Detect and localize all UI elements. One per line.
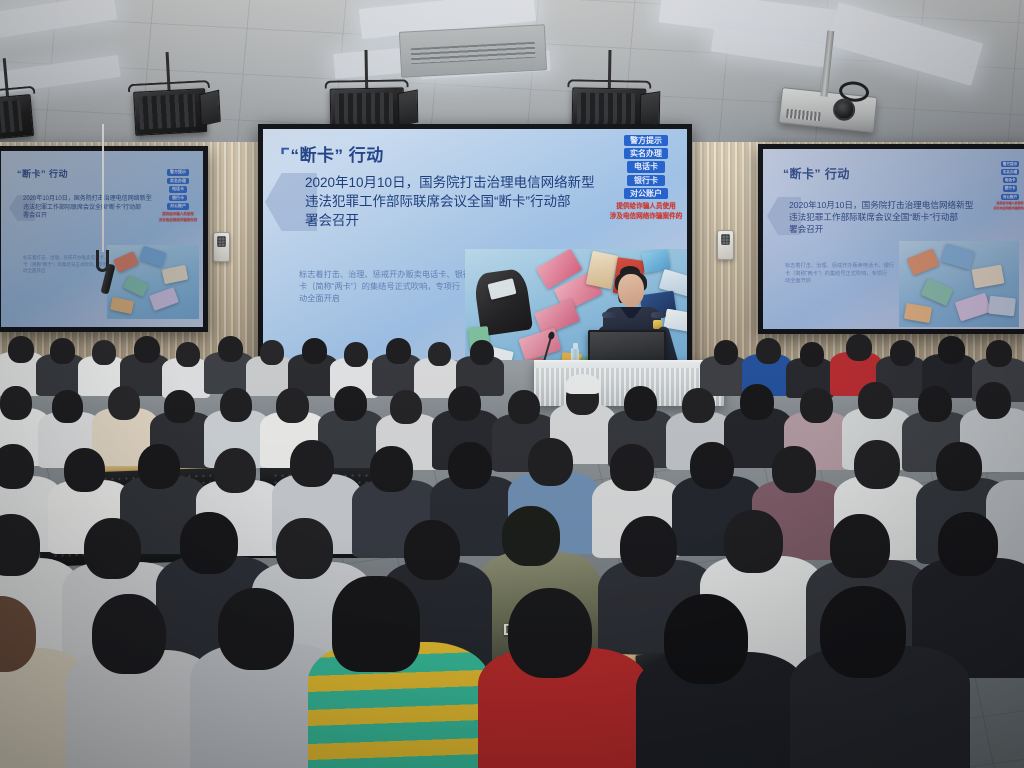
title-bracket-icon: ⌜ xyxy=(280,146,291,166)
audience-head xyxy=(448,386,481,421)
presenter-epaulette xyxy=(602,312,617,318)
audience-head xyxy=(610,444,654,491)
audience-head xyxy=(936,442,982,491)
audience-head xyxy=(52,390,83,423)
audience-head xyxy=(470,340,494,365)
hanging-wire xyxy=(102,124,104,252)
audience-head xyxy=(0,386,32,420)
slide-body-line: 2020年10月10日，国务院打击治理电信网络新型 xyxy=(305,173,655,192)
audience-head xyxy=(740,384,774,420)
audience-head xyxy=(508,390,540,424)
audience-head xyxy=(404,520,460,580)
audience-head xyxy=(528,438,573,486)
audience-head xyxy=(772,446,816,493)
audience-head xyxy=(84,518,141,579)
slide-body-line: 署会召开 xyxy=(305,211,655,230)
audience-cap xyxy=(566,374,600,394)
audience-head xyxy=(756,338,781,364)
audience-head xyxy=(8,336,34,363)
audience-head xyxy=(664,594,748,684)
audience-head xyxy=(938,512,998,576)
audience-head xyxy=(938,336,965,364)
audience-head xyxy=(820,586,906,678)
audience-head xyxy=(138,444,180,489)
audience-head xyxy=(858,382,893,419)
audience-head xyxy=(218,588,294,670)
wall-mounted-speaker xyxy=(717,230,734,260)
slide-caption-line: 标志着打击、治理、惩戒开办贩卖电话卡、银行 xyxy=(299,269,484,281)
audience-head xyxy=(624,386,657,421)
audience-head xyxy=(724,510,783,573)
audience-head xyxy=(448,442,492,489)
audience-head xyxy=(176,342,200,367)
audience-head xyxy=(92,594,166,674)
audience-head xyxy=(386,338,411,364)
audience-head xyxy=(344,342,368,367)
audience-head xyxy=(800,388,833,423)
slide-tag-phone-card: 电话卡 xyxy=(627,161,665,172)
audience-head xyxy=(276,388,309,423)
audience-head xyxy=(800,342,824,367)
audience-head xyxy=(64,448,105,492)
audience-head xyxy=(714,340,738,365)
lecture-hall-photo: “断卡” 行动 2020年10月10日，国务院打击治理电信网络新型 违法犯罪工作… xyxy=(0,0,1024,768)
slide-tag-corp-account: 对公账户 xyxy=(624,188,668,199)
audience-head xyxy=(508,588,592,678)
audience-head xyxy=(690,442,734,489)
slide-tag-column: 警方提示 实名办理 电话卡 银行卡 对公账户 提供给诈骗人员使用 涉及电信网络诈… xyxy=(611,135,681,221)
audience-head xyxy=(0,444,34,489)
audience-head xyxy=(332,576,420,672)
audience-head xyxy=(830,514,890,578)
wall-mounted-speaker xyxy=(213,232,230,262)
right-screen-dimming xyxy=(763,149,1024,329)
audience-head xyxy=(260,340,284,365)
stage-light xyxy=(133,84,207,132)
slide-red-note: 涉及电信网络诈骗案件的 xyxy=(610,213,683,221)
audience-head xyxy=(682,388,715,423)
audience-head xyxy=(276,518,333,579)
audience-head xyxy=(846,334,872,361)
audience-head xyxy=(334,386,367,421)
audience-head xyxy=(986,340,1012,367)
right-projection-screen[interactable]: “断卡” 行动 2020年10月10日，国务院打击治理电信网络新型 违法犯罪工作… xyxy=(758,144,1024,334)
slide-caption-line: 动全面开启 xyxy=(299,293,484,305)
slide-tag-real-name: 实名办理 xyxy=(624,148,668,159)
audience-head xyxy=(180,512,238,574)
presenter-epaulette xyxy=(651,312,666,318)
slide-red-note: 提供给诈骗人员使用 xyxy=(616,203,675,211)
slide-caption-line: 卡（简称“两卡”）的集结号正式吹响，专项行 xyxy=(299,281,484,293)
audience-head xyxy=(134,336,160,363)
audience-head xyxy=(390,390,422,424)
audience-head xyxy=(854,440,900,489)
audience-head xyxy=(108,386,140,420)
slide-tag-police-tip: 警方提示 xyxy=(624,135,668,146)
audience-head xyxy=(428,342,451,366)
left-projection-screen[interactable]: “断卡” 行动 2020年10月10日，国务院打击治理电信网络新型 违法犯罪工作… xyxy=(0,146,208,332)
audience-head xyxy=(220,388,252,422)
audience-head xyxy=(214,448,256,493)
projector-vent xyxy=(786,109,821,122)
stage-light xyxy=(0,90,34,136)
slide-title-text: “断卡” 行动 xyxy=(290,146,383,165)
audience-head xyxy=(918,386,952,422)
audience-head xyxy=(370,446,413,492)
audience-head xyxy=(890,340,915,366)
slide-tag-bank-card: 银行卡 xyxy=(627,175,665,186)
audience-head xyxy=(50,338,75,364)
slide-title: ⌜“断卡” 行动 xyxy=(281,141,384,166)
audience-head xyxy=(620,516,677,577)
audience-head xyxy=(92,340,116,365)
audience-head xyxy=(502,506,560,566)
audience: DIVISION xyxy=(0,330,1024,768)
audience-head xyxy=(218,336,243,362)
slide-body-line: 违法犯罪工作部际联席会议全国“断卡”行动部 xyxy=(305,192,655,211)
audience-head xyxy=(290,440,334,487)
audience-head xyxy=(164,390,195,423)
audience-head xyxy=(302,338,327,364)
audience-head xyxy=(976,382,1011,419)
